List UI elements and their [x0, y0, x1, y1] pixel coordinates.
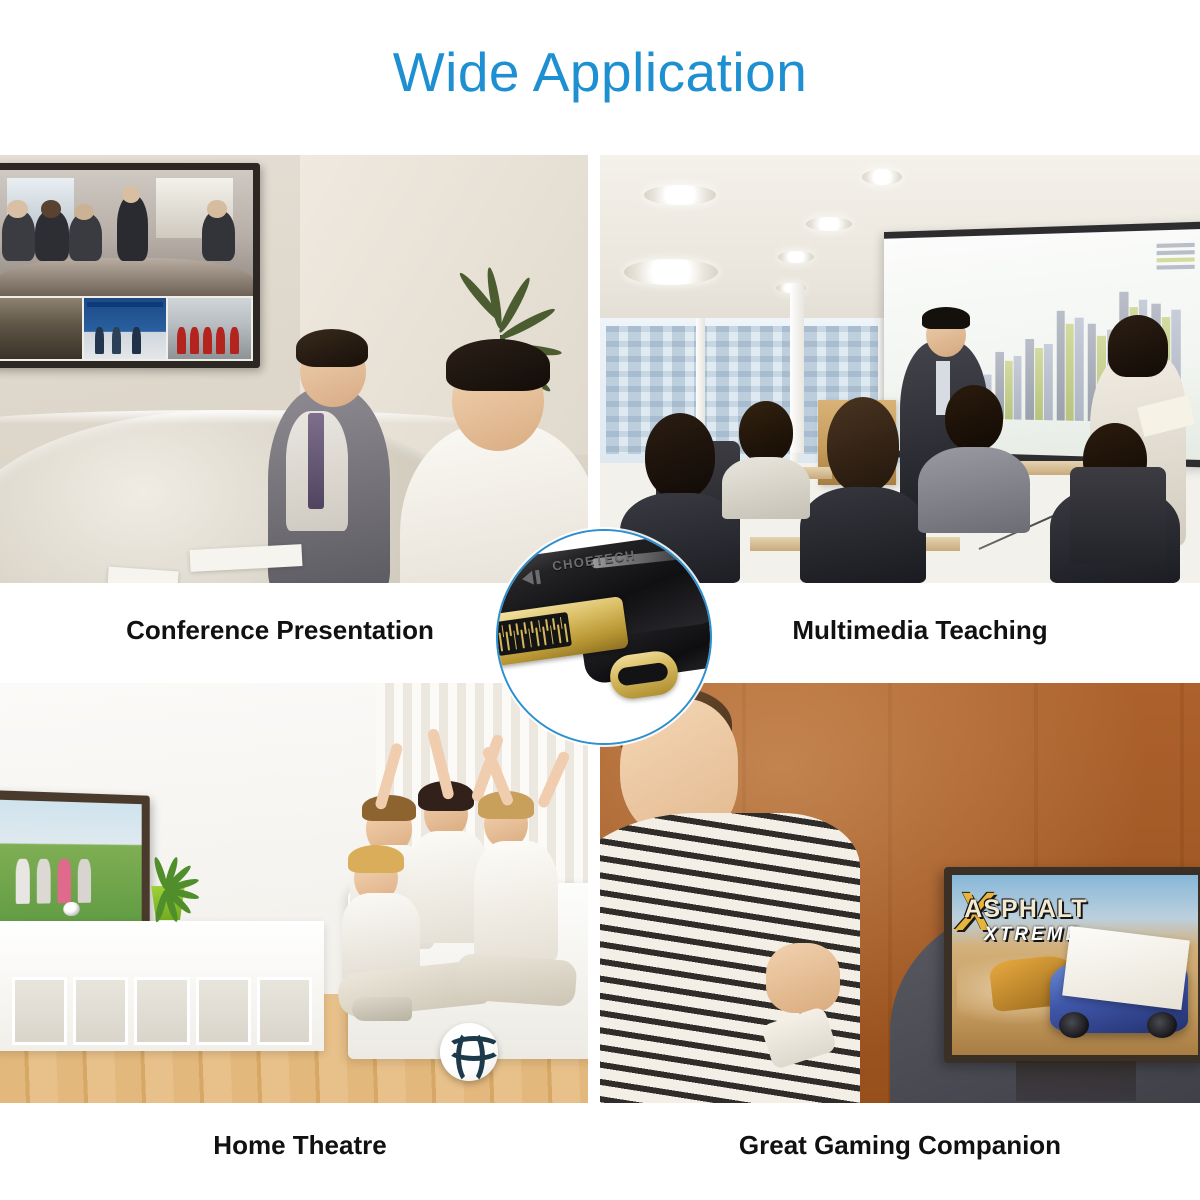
instructor-hair [1108, 315, 1168, 377]
game-title-line2: XTREME [984, 924, 1081, 946]
legs [455, 953, 578, 1007]
ceiling-vent-icon [624, 259, 718, 285]
person-hair [362, 795, 416, 821]
gamer-person [600, 693, 920, 1103]
ceiling-light-icon [778, 251, 814, 263]
ceiling-light-icon [644, 185, 716, 205]
potted-plant-icon [132, 841, 206, 893]
person-torso [474, 841, 558, 961]
product-feature-page: Wide Application [0, 0, 1200, 1200]
tv-stand [1016, 1061, 1136, 1101]
audience-member [918, 385, 1030, 533]
media-shelving [0, 921, 324, 1051]
thumbnail-feed [0, 298, 82, 359]
caption-multimedia-teaching: Multimedia Teaching [640, 615, 1200, 646]
thumbnail-feed [84, 298, 167, 359]
audience-member [800, 397, 926, 583]
video-conference-display [0, 163, 260, 368]
presenter-hair [922, 307, 970, 329]
product-cable-badge: CHOETECH [496, 529, 712, 745]
attendee-hair [446, 339, 550, 391]
caption-great-gaming-companion: Great Gaming Companion [610, 1130, 1190, 1161]
thumbnail-feed [168, 298, 251, 359]
photo-home-theatre [0, 683, 588, 1103]
person-hand [766, 943, 840, 1013]
photo-great-gaming-companion: X ASPHALT XTREME [600, 683, 1200, 1103]
ceiling-light-icon [862, 169, 902, 185]
soccer-ball [440, 1023, 498, 1081]
choetech-logo-icon [521, 570, 541, 586]
ceiling-light-icon [806, 217, 852, 231]
photo-conference-presentation [0, 155, 588, 583]
audience-member [722, 401, 810, 519]
attendee-hair [296, 329, 368, 367]
main-video-feed [0, 170, 253, 296]
video-feed-thumbnails [0, 296, 253, 361]
attendee-necktie [308, 413, 324, 509]
chart-legend [1156, 243, 1194, 273]
person-hair [348, 845, 404, 873]
tv-picture-soccer [0, 800, 142, 935]
family-group [348, 781, 578, 1011]
caption-conference-presentation: Conference Presentation [0, 615, 560, 646]
page-title: Wide Application [0, 44, 1200, 102]
magazine [1062, 926, 1190, 1010]
photo-multimedia-teaching [600, 155, 1200, 583]
caption-home-theatre: Home Theatre [10, 1130, 590, 1161]
shoe [352, 997, 412, 1021]
game-title-line1: ASPHALT [964, 895, 1087, 924]
